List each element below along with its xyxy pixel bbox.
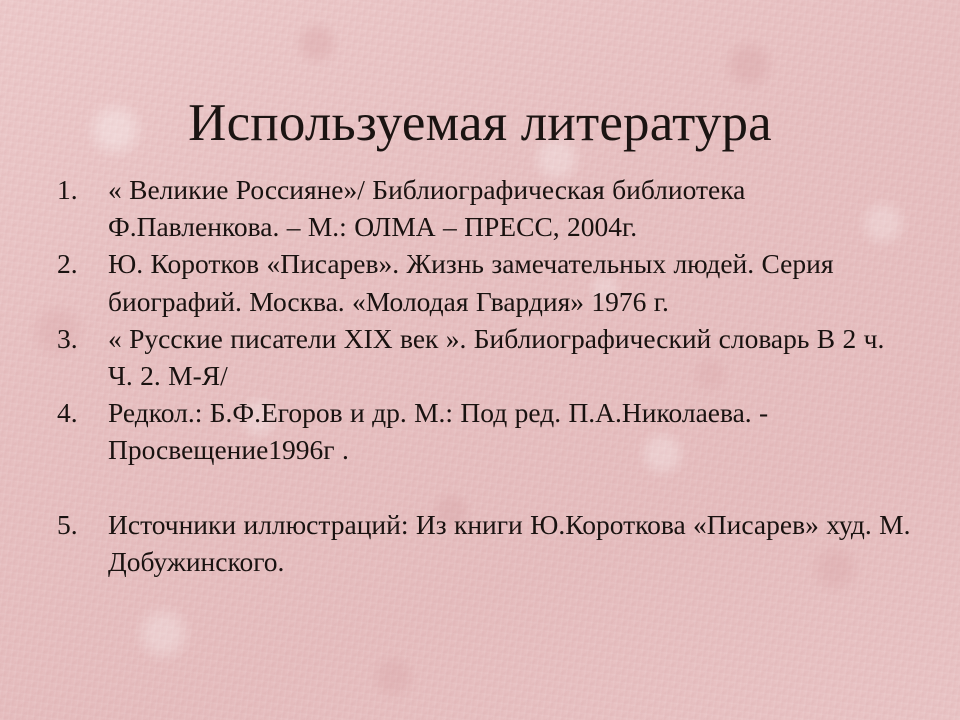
- list-item-number: 5.: [50, 506, 108, 543]
- list-item-text: « Великие Россияне»/ Библиографическая б…: [108, 171, 916, 245]
- list-item-text: Редкол.: Б.Ф.Егоров и др. М.: Под ред. П…: [108, 394, 916, 468]
- list-item: 4.Редкол.: Б.Ф.Егоров и др. М.: Под ред.…: [50, 394, 916, 468]
- list-item-number: 1.: [50, 171, 108, 208]
- list-item: 3.« Русские писатели XIX век ». Библиогр…: [50, 320, 916, 394]
- list-item: 2.Ю. Коротков «Писарев». Жизнь замечател…: [50, 245, 916, 319]
- list-item-number: 2.: [50, 245, 108, 282]
- slide-content: Используемая литература 1.« Великие Росс…: [0, 0, 960, 720]
- presentation-slide: Используемая литература 1.« Великие Росс…: [0, 0, 960, 720]
- list-item-number: 3.: [50, 320, 108, 357]
- list-item: 1.« Великие Россияне»/ Библиографическая…: [50, 171, 916, 245]
- list-item-text: Источники иллюстраций: Из книги Ю.Коротк…: [108, 506, 916, 580]
- reference-list: 1.« Великие Россияне»/ Библиографическая…: [50, 171, 916, 580]
- list-item-number: 4.: [50, 394, 108, 431]
- list-item-text: Ю. Коротков «Писарев». Жизнь замечательн…: [108, 245, 916, 319]
- list-item-text: « Русские писатели XIX век ». Библиограф…: [108, 320, 916, 394]
- list-item: 5.Источники иллюстраций: Из книги Ю.Коро…: [50, 506, 916, 580]
- page-title: Используемая литература: [0, 94, 960, 152]
